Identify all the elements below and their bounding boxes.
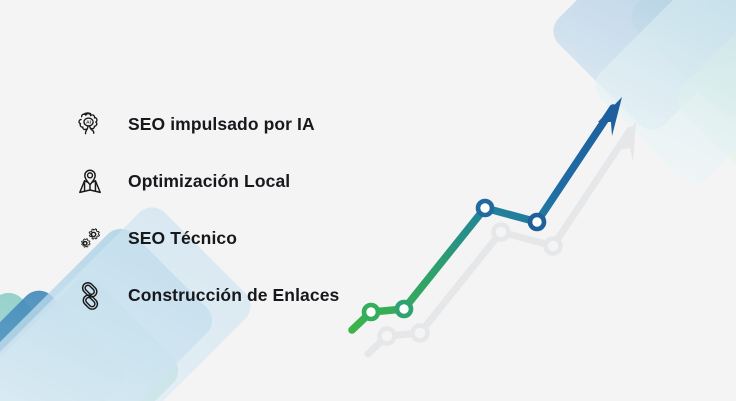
gears-icon — [70, 219, 110, 259]
feature-list: AI SEO impulsado por IA Optimización Loc… — [70, 96, 370, 324]
chart-node — [397, 302, 411, 316]
chart-node — [364, 305, 378, 319]
infographic-canvas: AI SEO impulsado por IA Optimización Loc… — [0, 0, 736, 401]
chart-main-series — [352, 97, 622, 330]
deco-block-top-right-green — [700, 0, 736, 109]
deco-block-top-right-pale-green — [670, 0, 736, 205]
chart-node — [478, 201, 492, 215]
growth-chart-svg — [330, 70, 660, 370]
feature-label: Construcción de Enlaces — [128, 285, 339, 306]
feature-label: Optimización Local — [128, 171, 290, 192]
feature-item-ai-seo[interactable]: AI SEO impulsado por IA — [70, 96, 370, 153]
ai-brain-icon: AI — [70, 105, 110, 145]
feature-item-local-optimization[interactable]: Optimización Local — [70, 153, 370, 210]
feature-item-technical-seo[interactable]: SEO Técnico — [70, 210, 370, 267]
feature-label: SEO impulsado por IA — [128, 114, 315, 135]
chart-node — [530, 215, 544, 229]
chain-link-icon — [70, 276, 110, 316]
map-pin-icon — [70, 162, 110, 202]
chart-shadow-series — [368, 121, 636, 354]
growth-chart — [330, 70, 660, 370]
feature-label: SEO Técnico — [128, 228, 237, 249]
svg-text:AI: AI — [86, 119, 91, 125]
feature-item-link-building[interactable]: Construcción de Enlaces — [70, 267, 370, 324]
